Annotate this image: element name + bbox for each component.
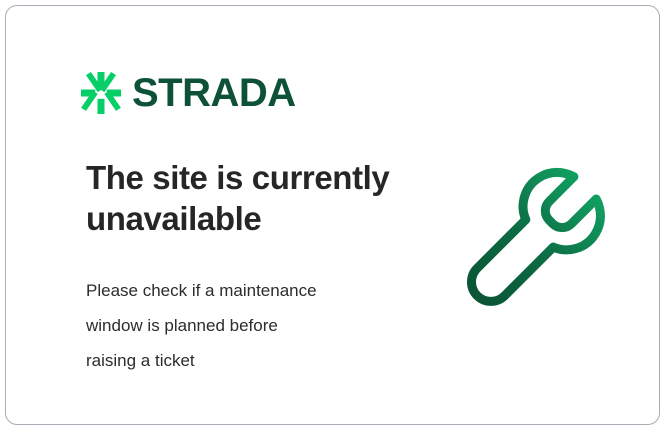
asterisk-star-icon xyxy=(81,72,121,114)
page-description: Please check if a maintenance window is … xyxy=(86,274,406,379)
page-title: The site is currently unavailable xyxy=(86,158,426,240)
wrench-icon xyxy=(461,163,613,315)
description-line: raising a ticket xyxy=(86,344,406,379)
status-card: STRADA The site is currently unavailable… xyxy=(5,5,660,425)
description-line: Please check if a maintenance xyxy=(86,274,406,309)
error-page: STRADA The site is currently unavailable… xyxy=(0,0,666,436)
brand-logo: STRADA xyxy=(81,72,296,114)
description-line: window is planned before xyxy=(86,309,406,344)
brand-wordmark: STRADA xyxy=(132,73,296,113)
